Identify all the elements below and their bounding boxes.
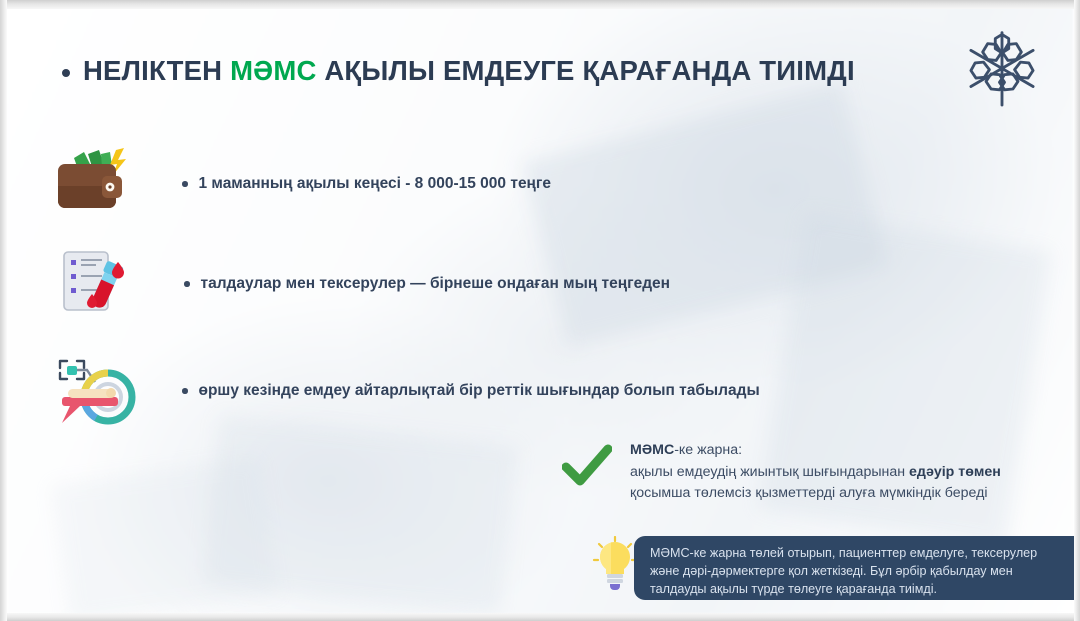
lightbulb-icon xyxy=(592,536,638,590)
bullet-dot-icon xyxy=(184,281,190,287)
fsms-snowflake-logo xyxy=(960,26,1044,110)
slide-frame-right xyxy=(1074,0,1080,621)
benefit-text: МӘМС-ке жарна: ақылы емдеудің жиынтық шы… xyxy=(630,440,1001,505)
tooltip-line-3: талдауды ақылы түрде төлеуге қарағанда т… xyxy=(650,581,1072,599)
bullet-text: 1 маманның ақылы кеңесі - 8 000-15 000 т… xyxy=(199,175,552,193)
bullet-text: өршу кезінде емдеу айтарлықтай бір ретті… xyxy=(199,382,760,400)
bullet-text-wrap: 1 маманның ақылы кеңесі - 8 000-15 000 т… xyxy=(182,175,551,193)
blood-test-icon xyxy=(50,238,142,330)
bullet-row: өршу кезінде емдеу айтарлықтай бір ретті… xyxy=(46,345,760,437)
title-highlight: МӘМС xyxy=(230,55,316,86)
info-tooltip: МӘМС-ке жарна төлей отырып, пациенттер е… xyxy=(634,536,1080,600)
title-after: АҚЫЛЫ ЕМДЕУГЕ ҚАРАҒАНДА ТИІМДІ xyxy=(317,55,855,86)
wallet-money-icon xyxy=(44,138,136,230)
slide-frame-left xyxy=(0,0,7,621)
tooltip-line-1: МӘМС-ке жарна төлей отырып, пациенттер е… xyxy=(650,545,1072,563)
benefit-block: МӘМС-ке жарна: ақылы емдеудің жиынтық шы… xyxy=(562,440,1001,505)
bullet-dot-icon xyxy=(182,181,188,187)
bullet-row: 1 маманның ақылы кеңесі - 8 000-15 000 т… xyxy=(44,138,551,230)
title-bullet-icon xyxy=(62,69,70,77)
title-text: НЕЛІКТЕН МӘМС АҚЫЛЫ ЕМДЕУГЕ ҚАРАҒАНДА ТИ… xyxy=(83,55,855,87)
benefit-line-2-bold: едәуір төмен xyxy=(909,464,1001,480)
benefit-line-1: МӘМС-ке жарна: xyxy=(630,440,1001,462)
bullet-dot-icon xyxy=(182,388,188,394)
bullet-row: талдаулар мен тексерулер — бірнеше ондағ… xyxy=(50,238,670,330)
benefit-line-2: ақылы емдеудің жиынтық шығындарынан едәу… xyxy=(630,462,1001,484)
benefit-line-3: қосымша төлемсіз қызметтерді алуға мүмкі… xyxy=(630,483,1001,505)
tooltip-line-2: және дәрі-дәрмектерге қол жеткізеді. Бұл… xyxy=(650,563,1072,581)
green-checkmark-icon xyxy=(562,444,612,490)
slide-frame-bottom xyxy=(0,613,1080,621)
benefit-line-2-prefix: ақылы емдеудің жиынтық шығындарынан xyxy=(630,464,909,480)
mri-scanner-icon xyxy=(46,345,138,437)
benefit-line-1-rest: -ке жарна: xyxy=(674,442,742,458)
slide-frame-top xyxy=(0,0,1080,9)
slide-title: НЕЛІКТЕН МӘМС АҚЫЛЫ ЕМДЕУГЕ ҚАРАҒАНДА ТИ… xyxy=(62,55,855,87)
bullet-text-wrap: талдаулар мен тексерулер — бірнеше ондағ… xyxy=(184,275,670,293)
bullet-text: талдаулар мен тексерулер — бірнеше ондағ… xyxy=(201,275,671,293)
presentation-slide: НЕЛІКТЕН МӘМС АҚЫЛЫ ЕМДЕУГЕ ҚАРАҒАНДА ТИ… xyxy=(0,0,1080,621)
bullet-text-wrap: өршу кезінде емдеу айтарлықтай бір ретті… xyxy=(182,382,760,400)
benefit-line-1-bold: МӘМС xyxy=(630,442,674,458)
title-before: НЕЛІКТЕН xyxy=(83,55,230,86)
